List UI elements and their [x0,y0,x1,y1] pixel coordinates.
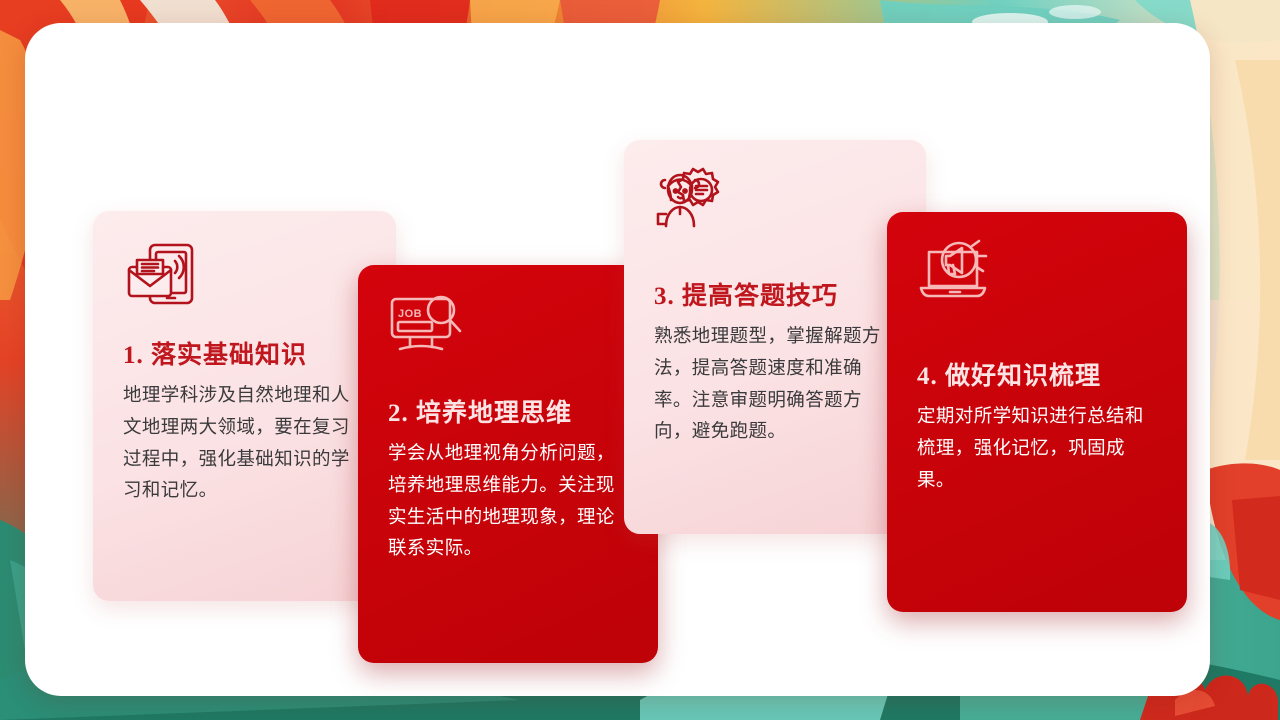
svg-text:JOB: JOB [398,308,422,320]
person-gear-icon [654,166,898,234]
card-title: 4. 做好知识梳理 [917,356,1159,392]
strategy-card-3[interactable]: 3. 提高答题技巧 熟悉地理题型，掌握解题方法，提高答题速度和准确率。注意审题明… [624,140,926,534]
card-body: 地理学科涉及自然地理和人文地理两大领域，要在复习过程中，强化基础知识的学习和记忆… [123,379,368,506]
card-body: 熟悉地理题型，掌握解题方法，提高答题速度和准确率。注意审题明确答题方向，避免跑题… [654,320,898,447]
strategy-card-2[interactable]: JOB 2. 培养地理思维 学会从地理视角分析问题，培养地理思维能力。关注现实生… [358,265,658,663]
monitor-job-search-icon: JOB [388,291,630,359]
strategy-card-4[interactable]: 4. 做好知识梳理 定期对所学知识进行总结和梳理，强化记忆，巩固成果。 [887,212,1187,612]
card-body: 学会从地理视角分析问题，培养地理思维能力。关注现实生活中的地理现象，理论联系实际… [388,437,630,564]
laptop-megaphone-icon [917,238,1159,306]
card-body: 定期对所学知识进行总结和梳理，强化记忆，巩固成果。 [917,400,1159,495]
card-title: 1. 落实基础知识 [123,335,368,371]
card-title: 3. 提高答题技巧 [654,276,898,312]
tablet-mail-icon [123,241,368,309]
card-title: 2. 培养地理思维 [388,393,630,429]
strategy-card-1[interactable]: 1. 落实基础知识 地理学科涉及自然地理和人文地理两大领域，要在复习过程中，强化… [93,211,396,601]
